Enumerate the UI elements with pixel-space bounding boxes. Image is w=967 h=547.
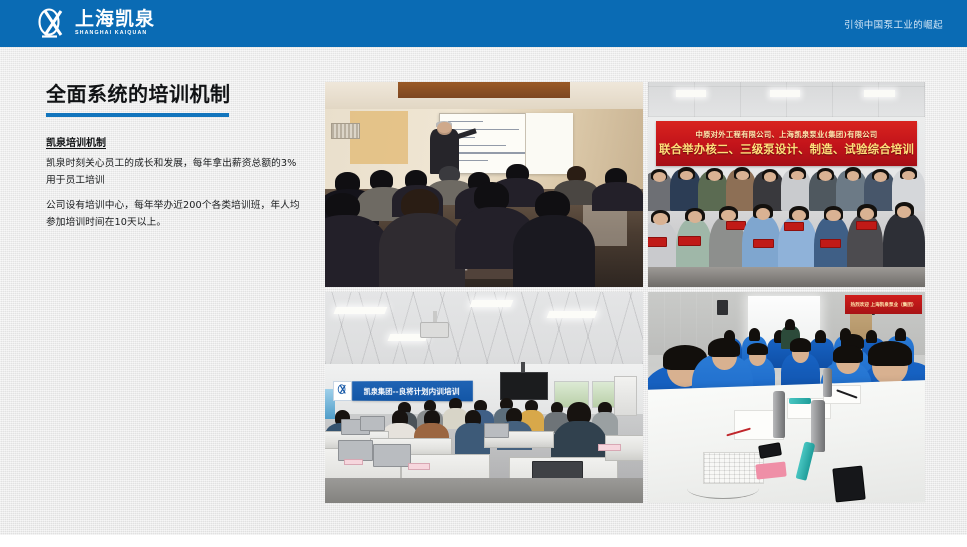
photo-group-certificate[interactable]: 中原对外工程有限公司、上海凯泉泵业(集团)有限公司 联合举办核二、三级泵设计、制…	[648, 82, 925, 287]
cable	[687, 478, 759, 499]
kaiquan-kx-logo-icon	[36, 8, 70, 40]
header-bar: 上海凯泉 SHANGHAI KAIQUAN 引领中国泵工业的崛起	[0, 0, 967, 47]
instructor-head	[437, 122, 452, 135]
title-underline-rule	[46, 113, 229, 117]
teal-marker	[789, 398, 811, 404]
classroom-banner-text: 凯泉集团--良将计划内训培训	[364, 385, 460, 396]
banner-line-1: 中原对外工程有限公司、上海凯泉泵业(集团)有限公司	[695, 130, 877, 140]
body-block: 凯泉培训机制 凯泉时刻关心员工的成长和发展，每年拿出薪资总额的3%用于员工培训 …	[46, 136, 302, 232]
ceiling-tiles	[648, 82, 925, 117]
text-column: 全面系统的培训机制 凯泉培训机制 凯泉时刻关心员工的成长和发展，每年拿出薪资总额…	[46, 82, 302, 232]
red-wall-banner-text: 热烈欢迎 上海凯泉泵业（集团）	[851, 302, 917, 308]
logo-chinese-name: 上海凯泉	[75, 10, 155, 29]
pink-pencil-case	[755, 461, 787, 479]
photo-computer-classroom[interactable]: 凯泉集团--良将计划内训培训	[325, 292, 643, 503]
brand-logo[interactable]: 上海凯泉 SHANGHAI KAIQUAN	[36, 7, 155, 41]
section-subtitle: 凯泉培训机制	[46, 136, 302, 151]
water-bottle	[823, 368, 833, 398]
header-tagline: 引领中国泵工业的崛起	[844, 17, 943, 31]
red-banner: 中原对外工程有限公司、上海凯泉泵业(集团)有限公司 联合举办核二、三级泵设计、制…	[656, 121, 916, 166]
wall-monitor	[500, 372, 548, 399]
red-wall-banner: 热烈欢迎 上海凯泉泵业（集团）	[845, 295, 923, 314]
smartphone	[832, 466, 866, 503]
logo-english-name: SHANGHAI KAIQUAN	[75, 31, 157, 36]
floor	[325, 478, 643, 503]
body-paragraph-1: 凯泉时刻关心员工的成长和发展，每年拿出薪资总额的3%用于员工培训	[46, 156, 302, 189]
photo-workshop-training[interactable]: 热烈欢迎 上海凯泉泵业（集团）	[648, 292, 925, 503]
slide-root: 上海凯泉 SHANGHAI KAIQUAN 引领中国泵工业的崛起 全面系统的培训…	[0, 0, 967, 547]
banner-line-2: 联合举办核二、三级泵设计、制造、试验综合培训	[659, 141, 914, 157]
photo-grid: 中原对外工程有限公司、上海凯泉泵业(集团)有限公司 联合举办核二、三级泵设计、制…	[325, 82, 922, 503]
air-conditioner	[614, 376, 636, 416]
kaiquan-badge-icon	[333, 381, 352, 401]
thermos-bottle	[773, 391, 785, 437]
whiteboard-right-panel	[525, 113, 573, 175]
photo-lecture-hall[interactable]	[325, 82, 643, 287]
body-paragraph-2: 公司设有培训中心，每年举办近200个各类培训班，年人均参加培训时间在10天以上。	[46, 198, 302, 231]
page-title: 全面系统的培训机制	[46, 82, 302, 107]
ceiling-projector	[420, 322, 449, 339]
wall-vent	[331, 123, 360, 139]
floor	[648, 267, 925, 288]
wood-beam	[398, 82, 570, 98]
